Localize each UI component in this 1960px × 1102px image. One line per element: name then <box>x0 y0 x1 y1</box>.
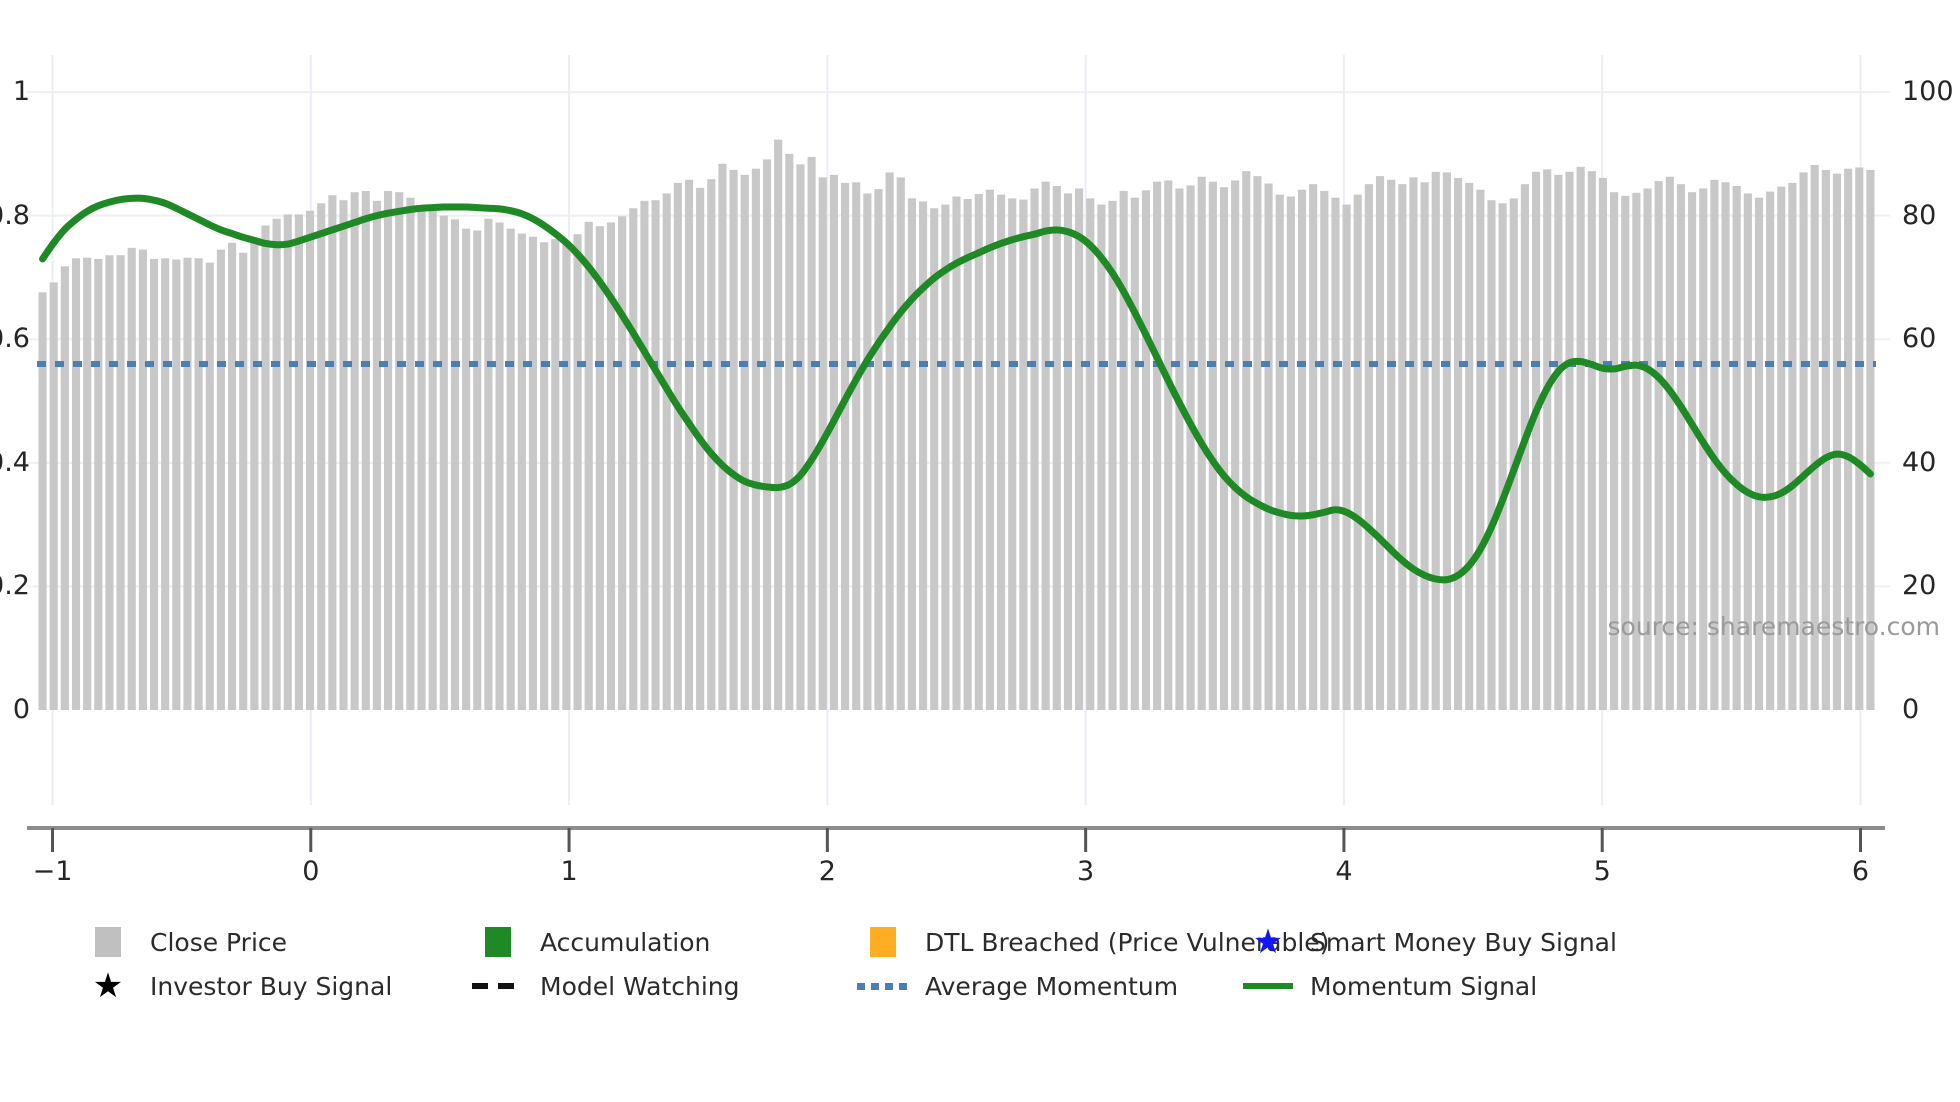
x-axis-tick-label: 1 <box>509 858 629 885</box>
bar <box>808 157 816 710</box>
bar <box>306 211 314 710</box>
bar <box>1220 187 1228 710</box>
bar <box>1599 178 1607 710</box>
legend-row: ★Investor Buy SignalModel WatchingAverag… <box>80 964 1880 1008</box>
bar <box>250 242 258 710</box>
bar <box>874 189 882 710</box>
legend-label: Average Momentum <box>925 972 1178 1001</box>
bar <box>1577 167 1585 710</box>
bar <box>1409 177 1417 710</box>
bar <box>1487 200 1495 710</box>
bar <box>1543 169 1551 710</box>
bar <box>507 229 515 710</box>
bar <box>1398 184 1406 710</box>
legend-row: Close PriceAccumulationDTL Breached (Pri… <box>80 920 1880 964</box>
bar <box>1030 188 1038 710</box>
bar <box>1588 171 1596 710</box>
x-axis-tick-label: 5 <box>1542 858 1662 885</box>
bar <box>495 222 503 710</box>
y-axis-right-tick-label: 20 <box>1902 572 1936 599</box>
bar <box>83 258 91 710</box>
bar <box>228 243 236 710</box>
bar <box>752 169 760 710</box>
bar <box>473 230 481 710</box>
bar <box>1097 205 1105 710</box>
dashed-line-icon-wrap <box>470 983 526 989</box>
bar <box>1242 171 1250 710</box>
bar <box>50 282 58 710</box>
bar <box>1153 182 1161 710</box>
bar <box>1343 205 1351 710</box>
bar <box>1354 195 1362 710</box>
bar <box>1421 182 1429 710</box>
legend-label: Close Price <box>150 928 287 957</box>
chart-legend: Close PriceAccumulationDTL Breached (Pri… <box>80 920 1880 1008</box>
bar <box>1532 172 1540 710</box>
bar <box>652 200 660 710</box>
x-axis-tick-label: −1 <box>0 858 113 885</box>
bar <box>462 229 470 710</box>
legend-item-dtl-breached[interactable]: DTL Breached (Price Vulnerable) <box>855 920 1240 964</box>
bar <box>451 219 459 710</box>
x-axis-tick-label: 3 <box>1026 858 1146 885</box>
bar <box>1253 176 1261 710</box>
square-swatch-icon <box>95 927 121 957</box>
bar <box>261 226 269 710</box>
dotted-line-icon-wrap <box>855 983 911 990</box>
bar <box>1019 200 1027 710</box>
bar <box>206 263 214 710</box>
bar <box>1175 188 1183 710</box>
bar <box>618 216 626 710</box>
bar <box>1565 172 1573 710</box>
bar <box>573 234 581 710</box>
bar <box>384 191 392 710</box>
bar <box>172 260 180 710</box>
legend-item-momentum-signal[interactable]: Momentum Signal <box>1240 964 1620 1008</box>
bar <box>351 192 359 710</box>
bar <box>1075 188 1083 710</box>
square-swatch-icon-wrap <box>855 927 911 957</box>
bar <box>674 183 682 710</box>
bar <box>551 239 559 710</box>
bar <box>997 195 1005 710</box>
bar <box>1465 183 1473 710</box>
bar <box>1064 193 1072 710</box>
bar <box>1298 190 1306 710</box>
bar <box>1265 184 1273 710</box>
bar <box>886 172 894 710</box>
bar <box>852 182 860 710</box>
bar <box>1209 182 1217 710</box>
legend-label: Model Watching <box>540 972 740 1001</box>
bar <box>1086 198 1094 710</box>
x-axis-tick-label: 6 <box>1801 858 1921 885</box>
bar <box>195 258 203 710</box>
bar <box>975 194 983 710</box>
bar <box>685 180 693 710</box>
bar-series-close-price <box>39 140 1875 710</box>
bar <box>1476 190 1484 710</box>
bar <box>897 177 905 710</box>
bar <box>317 203 325 710</box>
legend-item-smart-money-buy-signal[interactable]: ★Smart Money Buy Signal <box>1240 920 1620 964</box>
bar <box>1287 197 1295 711</box>
bar <box>161 258 169 710</box>
bar <box>1376 176 1384 710</box>
bar <box>128 248 136 710</box>
bar <box>718 164 726 710</box>
star-icon-wrap: ★ <box>1240 925 1296 959</box>
bar <box>562 242 570 710</box>
bar <box>663 193 671 710</box>
bar <box>239 253 247 710</box>
y-axis-right-tick-label: 80 <box>1902 202 1936 229</box>
bar <box>417 209 425 710</box>
bar <box>863 193 871 710</box>
dashed-line-icon <box>472 983 524 989</box>
y-axis-left-tick-label: 0.2 <box>0 572 30 599</box>
star-icon: ★ <box>1253 925 1283 959</box>
bar <box>952 197 960 711</box>
legend-item-accumulation[interactable]: Accumulation <box>470 920 855 964</box>
bar <box>919 201 927 710</box>
bar <box>1387 180 1395 710</box>
bar <box>741 175 749 710</box>
bar <box>440 216 448 710</box>
legend-item-investor-buy-signal[interactable]: ★Investor Buy Signal <box>80 964 470 1008</box>
bar <box>986 190 994 710</box>
legend-label: Accumulation <box>540 928 710 957</box>
bar <box>217 250 225 710</box>
bar <box>39 292 47 710</box>
bar <box>1499 203 1507 710</box>
x-axis-tick-label: 2 <box>767 858 887 885</box>
y-axis-right-tick-label: 0 <box>1902 696 1919 723</box>
bar <box>908 198 916 710</box>
square-swatch-icon-wrap <box>80 927 136 957</box>
bar <box>785 154 793 710</box>
bar <box>72 258 80 710</box>
x-axis-tick-label: 0 <box>251 858 371 885</box>
bar <box>1120 191 1128 710</box>
y-axis-right-tick-label: 100 <box>1902 78 1954 105</box>
bar <box>1142 190 1150 710</box>
bar <box>1164 180 1172 710</box>
bar <box>540 242 548 710</box>
legend-label: Investor Buy Signal <box>150 972 392 1001</box>
dotted-line-icon <box>857 983 909 990</box>
bar <box>796 164 804 710</box>
bar <box>362 191 370 710</box>
legend-label: Smart Money Buy Signal <box>1310 928 1617 957</box>
bar <box>295 214 303 710</box>
bar <box>1454 178 1462 710</box>
bar <box>518 234 526 710</box>
bar <box>1276 195 1284 710</box>
bar <box>1365 184 1373 710</box>
y-axis-left-tick-label: 0.4 <box>0 449 30 476</box>
bar <box>61 266 69 710</box>
chart-figure: 00.20.40.60.81020406080100−10123456 sour… <box>0 0 1960 1102</box>
square-swatch-icon <box>870 927 896 957</box>
bar <box>117 255 125 710</box>
bar <box>640 201 648 710</box>
bar <box>585 222 593 710</box>
bar <box>774 140 782 710</box>
bar <box>94 259 102 710</box>
bar <box>1131 198 1139 710</box>
bar <box>1231 180 1239 710</box>
bar <box>1309 184 1317 710</box>
bar <box>1053 186 1061 710</box>
bar <box>406 198 414 710</box>
legend-label: Momentum Signal <box>1310 972 1537 1001</box>
legend-item-close-price[interactable]: Close Price <box>80 920 470 964</box>
bar <box>105 255 113 710</box>
legend-item-model-watching[interactable]: Model Watching <box>470 964 855 1008</box>
bar <box>941 205 949 710</box>
bar <box>183 258 191 710</box>
bar <box>964 199 972 710</box>
x-axis-tick-label: 4 <box>1284 858 1404 885</box>
star-icon: ★ <box>93 969 123 1003</box>
solid-line-icon-wrap <box>1240 983 1296 989</box>
bar <box>1042 182 1050 710</box>
bar <box>273 219 281 710</box>
square-swatch-icon-wrap <box>470 927 526 957</box>
bar <box>328 195 336 710</box>
bar <box>1320 191 1328 710</box>
bar <box>1008 198 1016 710</box>
bar <box>529 237 537 710</box>
bar <box>629 208 637 710</box>
bar <box>150 259 158 710</box>
bar <box>730 170 738 710</box>
bar <box>139 250 147 710</box>
bar <box>763 159 771 710</box>
y-axis-left-tick-label: 0.8 <box>0 202 30 229</box>
square-swatch-icon <box>485 927 511 957</box>
y-axis-left-tick-label: 1 <box>13 78 30 105</box>
bar <box>1432 172 1440 710</box>
y-axis-left-tick-label: 0 <box>13 696 30 723</box>
solid-line-icon <box>1243 983 1293 989</box>
bar <box>284 214 292 710</box>
bar <box>373 201 381 710</box>
bar <box>830 175 838 710</box>
bar <box>395 192 403 710</box>
bar <box>596 226 604 710</box>
y-axis-right-tick-label: 40 <box>1902 449 1936 476</box>
bar <box>1554 175 1562 710</box>
y-axis-right-tick-label: 60 <box>1902 325 1936 352</box>
source-attribution: source: sharemaestro.com <box>1608 612 1941 641</box>
bar <box>841 183 849 710</box>
bar <box>429 205 437 710</box>
y-axis-left-tick-label: 0.6 <box>0 325 30 352</box>
star-icon-wrap: ★ <box>80 969 136 1003</box>
bar <box>1443 172 1451 710</box>
bar <box>1331 198 1339 710</box>
bar <box>339 200 347 710</box>
bar <box>484 219 492 710</box>
bar <box>1186 185 1194 710</box>
legend-item-average-momentum[interactable]: Average Momentum <box>855 964 1240 1008</box>
